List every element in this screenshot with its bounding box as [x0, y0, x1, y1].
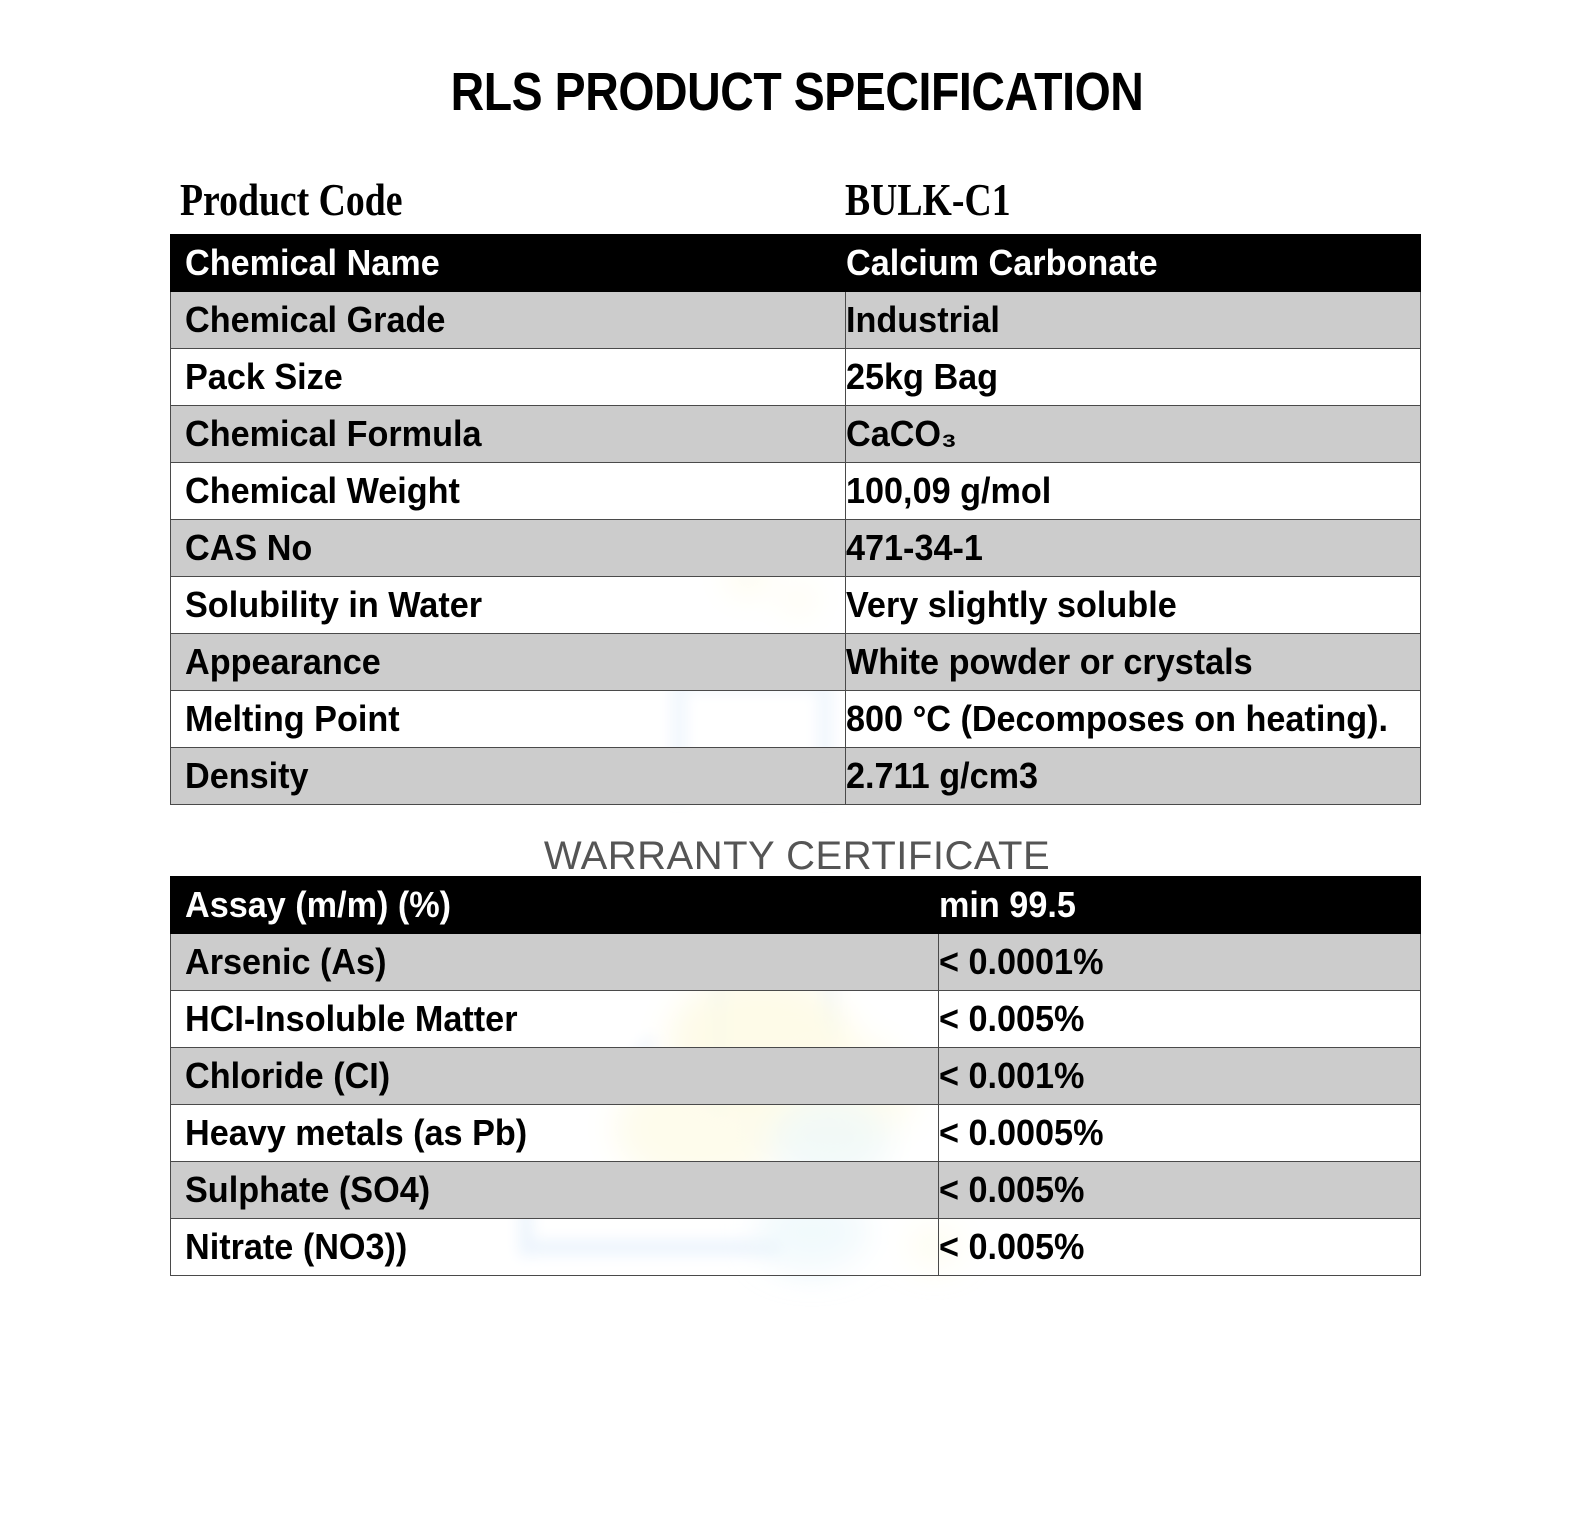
- warranty-label-cell: Nitrate (NO3)): [171, 1219, 939, 1276]
- spec-label-cell: Solubility in Water: [171, 577, 846, 634]
- warranty-value-text: < 0.005%: [939, 1170, 1084, 1210]
- spec-value-cell: CaCO₃: [846, 406, 1421, 463]
- warranty-value-cell: < 0.0001%: [939, 934, 1421, 991]
- warranty-value-cell: < 0.005%: [939, 1162, 1421, 1219]
- warranty-table-body: Assay (m/m) (%)min 99.5Arsenic (As)< 0.0…: [171, 877, 1421, 1276]
- spec-value-cell: 471-34-1: [846, 520, 1421, 577]
- spec-value-text: CaCO₃: [846, 414, 957, 454]
- warranty-certificate-heading: WARRANTY CERTIFICATE: [0, 833, 1594, 879]
- spec-label-text: Pack Size: [185, 357, 343, 397]
- spec-value-cell: Very slightly soluble: [846, 577, 1421, 634]
- spec-label-text: CAS No: [185, 528, 312, 568]
- spec-value-text: Very slightly soluble: [846, 585, 1177, 625]
- warranty-value-cell: min 99.5: [939, 877, 1421, 934]
- table-row: Assay (m/m) (%)min 99.5: [171, 877, 1421, 934]
- warranty-label-cell: Assay (m/m) (%): [171, 877, 939, 934]
- product-specification-table: Chemical NameCalcium CarbonateChemical G…: [170, 234, 1421, 805]
- spec-label-text: Density: [185, 756, 309, 796]
- table-row: Melting Point800 °C (Decomposes on heati…: [171, 691, 1421, 748]
- warranty-value-text: < 0.005%: [939, 999, 1084, 1039]
- warranty-label-text: Sulphate (SO4): [185, 1170, 430, 1210]
- spec-value-cell: 100,09 g/mol: [846, 463, 1421, 520]
- spec-label-cell: Appearance: [171, 634, 846, 691]
- warranty-label-cell: Arsenic (As): [171, 934, 939, 991]
- warranty-value-text: < 0.0005%: [939, 1113, 1103, 1153]
- spec-value-cell: Calcium Carbonate: [846, 235, 1421, 292]
- spec-value-cell: 25kg Bag: [846, 349, 1421, 406]
- spec-label-text: Chemical Grade: [185, 300, 445, 340]
- table-row: Chemical NameCalcium Carbonate: [171, 235, 1421, 292]
- warranty-value-cell: < 0.005%: [939, 1219, 1421, 1276]
- spec-label-text: Solubility in Water: [185, 585, 482, 625]
- spec-label-text: Appearance: [185, 642, 381, 682]
- warranty-value-text: < 0.001%: [939, 1056, 1084, 1096]
- table-row: Chemical GradeIndustrial: [171, 292, 1421, 349]
- warranty-certificate-table: Assay (m/m) (%)min 99.5Arsenic (As)< 0.0…: [170, 876, 1421, 1276]
- warranty-label-text: Arsenic (As): [185, 942, 386, 982]
- document-page: RLS PRODUCT SPECIFICATION Product Code B…: [0, 0, 1594, 1526]
- warranty-label-text: Chloride (CI): [185, 1056, 390, 1096]
- warranty-value-cell: < 0.001%: [939, 1048, 1421, 1105]
- table-row: Chloride (CI)< 0.001%: [171, 1048, 1421, 1105]
- warranty-value-cell: < 0.005%: [939, 991, 1421, 1048]
- table-row: CAS No471-34-1: [171, 520, 1421, 577]
- warranty-value-text: < 0.0001%: [939, 942, 1103, 982]
- table-row: Nitrate (NO3))< 0.005%: [171, 1219, 1421, 1276]
- spec-label-cell: Melting Point: [171, 691, 846, 748]
- spec-label-cell: Chemical Formula: [171, 406, 846, 463]
- table-row: Sulphate (SO4)< 0.005%: [171, 1162, 1421, 1219]
- spec-value-cell: Industrial: [846, 292, 1421, 349]
- product-code-row: Product Code BULK-C1: [170, 172, 1420, 228]
- warranty-label-cell: Chloride (CI): [171, 1048, 939, 1105]
- product-code-value: BULK-C1: [845, 172, 1011, 228]
- spec-label-cell: Chemical Name: [171, 235, 846, 292]
- spec-label-cell: Chemical Weight: [171, 463, 846, 520]
- table-row: Arsenic (As)< 0.0001%: [171, 934, 1421, 991]
- spec-value-text: 800 °C (Decomposes on heating).: [846, 699, 1388, 739]
- spec-table-body: Chemical NameCalcium CarbonateChemical G…: [171, 235, 1421, 805]
- table-row: AppearanceWhite powder or crystals: [171, 634, 1421, 691]
- table-row: Heavy metals (as Pb)< 0.0005%: [171, 1105, 1421, 1162]
- table-row: Pack Size25kg Bag: [171, 349, 1421, 406]
- spec-value-text: 2.711 g/cm3: [846, 756, 1038, 796]
- spec-value-text: White powder or crystals: [846, 642, 1253, 682]
- spec-value-cell: White powder or crystals: [846, 634, 1421, 691]
- spec-value-cell: 2.711 g/cm3: [846, 748, 1421, 805]
- warranty-label-text: Heavy metals (as Pb): [185, 1113, 527, 1153]
- spec-label-text: Chemical Name: [185, 243, 440, 283]
- warranty-label-cell: Sulphate (SO4): [171, 1162, 939, 1219]
- spec-value-cell: 800 °C (Decomposes on heating).: [846, 691, 1421, 748]
- spec-value-text: 471-34-1: [846, 528, 983, 568]
- product-code-label: Product Code: [180, 172, 402, 228]
- warranty-value-cell: < 0.0005%: [939, 1105, 1421, 1162]
- table-row: Chemical Weight100,09 g/mol: [171, 463, 1421, 520]
- spec-label-cell: CAS No: [171, 520, 846, 577]
- warranty-label-cell: HCI-Insoluble Matter: [171, 991, 939, 1048]
- spec-value-text: Industrial: [846, 300, 1000, 340]
- page-title: RLS PRODUCT SPECIFICATION: [112, 62, 1483, 122]
- spec-label-cell: Density: [171, 748, 846, 805]
- spec-value-text: Calcium Carbonate: [846, 243, 1158, 283]
- warranty-value-text: min 99.5: [939, 885, 1076, 925]
- spec-label-cell: Pack Size: [171, 349, 846, 406]
- warranty-label-text: Nitrate (NO3)): [185, 1227, 407, 1267]
- spec-value-text: 100,09 g/mol: [846, 471, 1051, 511]
- spec-label-text: Melting Point: [185, 699, 400, 739]
- table-row: HCI-Insoluble Matter< 0.005%: [171, 991, 1421, 1048]
- warranty-label-text: Assay (m/m) (%): [185, 885, 451, 925]
- spec-label-text: Chemical Weight: [185, 471, 460, 511]
- table-row: Solubility in WaterVery slightly soluble: [171, 577, 1421, 634]
- warranty-label-cell: Heavy metals (as Pb): [171, 1105, 939, 1162]
- table-row: Density2.711 g/cm3: [171, 748, 1421, 805]
- warranty-value-text: < 0.005%: [939, 1227, 1084, 1267]
- warranty-label-text: HCI-Insoluble Matter: [185, 999, 518, 1039]
- spec-label-cell: Chemical Grade: [171, 292, 846, 349]
- spec-label-text: Chemical Formula: [185, 414, 481, 454]
- table-row: Chemical FormulaCaCO₃: [171, 406, 1421, 463]
- spec-value-text: 25kg Bag: [846, 357, 998, 397]
